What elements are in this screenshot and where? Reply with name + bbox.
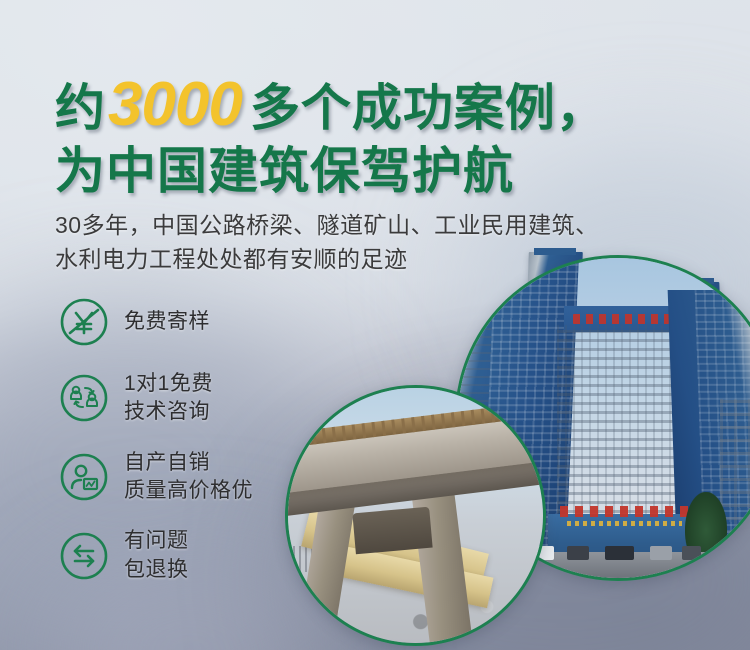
car xyxy=(682,546,701,560)
building-spire-cap xyxy=(534,248,576,255)
promo-banner: 约 3000 多个成功案例， 为中国建筑保驾护航 30多年，中国公路桥梁、隧道矿… xyxy=(0,0,750,650)
bridge-underside-shadow xyxy=(353,507,433,554)
headline-prefix: 约 xyxy=(55,83,106,133)
rooftop-sign xyxy=(573,314,669,324)
feature-line: 免费寄样 xyxy=(124,308,210,336)
headline-suffix: 多个成功案例， xyxy=(250,83,607,133)
concrete-viaduct-photo xyxy=(285,385,546,646)
feature-label: 有问题 包退换 xyxy=(124,527,189,584)
feature-line: 1对1免费 xyxy=(124,370,213,398)
yuan-slash-icon xyxy=(58,296,110,348)
headline-line-2: 为中国建筑保驾护航 xyxy=(55,146,715,196)
headline-number: 3000 xyxy=(108,74,242,136)
feature-label: 自产自销 质量高价格优 xyxy=(124,449,253,506)
entrance-sign-subtitle xyxy=(567,521,682,526)
feature-line: 技术咨询 xyxy=(124,398,213,426)
feature-line: 有问题 xyxy=(124,527,189,555)
car xyxy=(650,546,672,560)
feature-line: 自产自销 xyxy=(124,449,253,477)
one-on-one-consult-icon xyxy=(58,372,110,424)
headline: 约 3000 多个成功案例， 为中国建筑保驾护航 xyxy=(55,74,715,196)
bridge-scene xyxy=(288,388,543,643)
exchange-arrows-icon xyxy=(58,530,110,582)
entrance-sign xyxy=(560,506,688,517)
feature-line: 包退换 xyxy=(124,556,189,584)
car xyxy=(605,546,634,560)
feature-item-free-sample: 免费寄样 xyxy=(58,296,358,348)
car xyxy=(567,546,589,560)
subtitle-line-1: 30多年，中国公路桥梁、隧道矿山、工业民用建筑、 xyxy=(55,208,715,242)
feature-line: 质量高价格优 xyxy=(124,477,253,505)
headline-line-1: 约 3000 多个成功案例， xyxy=(55,74,715,136)
headline-subline: 为中国建筑保驾护航 xyxy=(55,146,514,196)
feature-label: 免费寄样 xyxy=(124,308,210,336)
feature-label: 1对1免费 技术咨询 xyxy=(124,370,213,427)
person-chart-icon xyxy=(58,451,110,503)
